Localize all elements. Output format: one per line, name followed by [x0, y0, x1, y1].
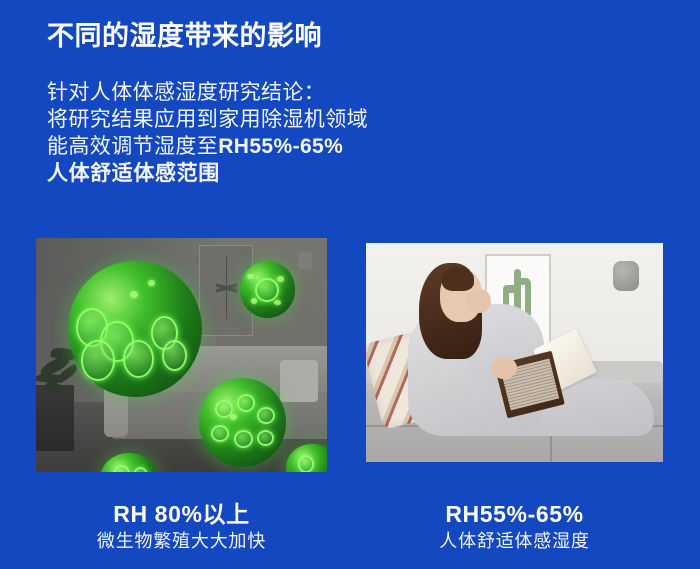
intro-paragraph: 针对人体体感湿度研究结论： 将研究结果应用到家用除湿机领域 能高效调节湿度至RH…: [47, 79, 368, 187]
caption-title: RH55%-65%: [366, 500, 663, 528]
cactus-icon: [518, 278, 530, 285]
cactus-icon: [525, 280, 531, 317]
microbe-sphere-small: [240, 261, 295, 317]
intro-line-4: 人体舒适体感范围: [47, 160, 368, 187]
intro-line-3-normal: 能高效调节湿度至: [47, 135, 218, 158]
microbe-speck: [277, 276, 284, 282]
plant-pot: [36, 385, 74, 451]
sofa-cushion: [280, 360, 318, 402]
photo-high-humidity-scene: [36, 238, 327, 472]
microbe-nub: [113, 465, 130, 472]
microbe-nub: [162, 340, 187, 371]
page-title: 不同的湿度带来的影响: [47, 20, 322, 54]
microbe-speck: [148, 280, 155, 285]
photo-comfort-humidity-scene: [366, 243, 663, 462]
photo-comfort-humidity: [366, 243, 663, 462]
caption-high-humidity: RH 80%以上 微生物繁殖大大加快: [36, 500, 327, 554]
person-hand-lower: [491, 357, 518, 379]
microbe-sphere-large: [68, 261, 202, 397]
microbe-speck: [230, 414, 237, 420]
person-hair-front: [442, 267, 475, 291]
intro-line-1: 针对人体体感湿度研究结论：: [47, 79, 368, 106]
wall-device-icon: [613, 261, 639, 291]
microbe-nub: [298, 455, 315, 472]
microbe-nub: [211, 425, 229, 442]
microbe-speck: [251, 298, 258, 304]
microbe-nub: [234, 430, 253, 448]
microbe-speck: [130, 291, 138, 298]
intro-line-3-highlight: RH55%-65%: [218, 135, 343, 158]
intro-line-3: 能高效调节湿度至RH55%-65%: [47, 133, 368, 160]
microbe-nub: [257, 407, 275, 424]
cactus-icon: [503, 285, 518, 292]
caption-title: RH 80%以上: [36, 500, 327, 528]
microbe-nub: [81, 340, 114, 381]
person-hand-upper: [467, 289, 491, 313]
microbe-nub: [237, 394, 255, 411]
microbe-nub: [123, 340, 154, 378]
microbe-speck: [247, 274, 254, 280]
photo-high-humidity: [36, 238, 327, 472]
microbe-nub: [257, 430, 274, 446]
caption-subtitle: 人体舒适体感湿度: [366, 528, 663, 554]
caption-comfort-humidity: RH55%-65% 人体舒适体感湿度: [366, 500, 663, 554]
microbe-sphere-foreground: [199, 378, 286, 467]
wall-device-icon: [298, 252, 312, 270]
intro-line-2: 将研究结果应用到家用除湿机领域: [47, 106, 368, 133]
microbe-nub: [133, 467, 149, 472]
caption-subtitle: 微生物繁殖大大加快: [36, 528, 327, 554]
infographic-page: 不同的湿度带来的影响 针对人体体感湿度研究结论： 将研究结果应用到家用除湿机领域…: [0, 0, 700, 569]
microbe-nub: [255, 278, 279, 302]
microbe-speck: [274, 300, 281, 306]
